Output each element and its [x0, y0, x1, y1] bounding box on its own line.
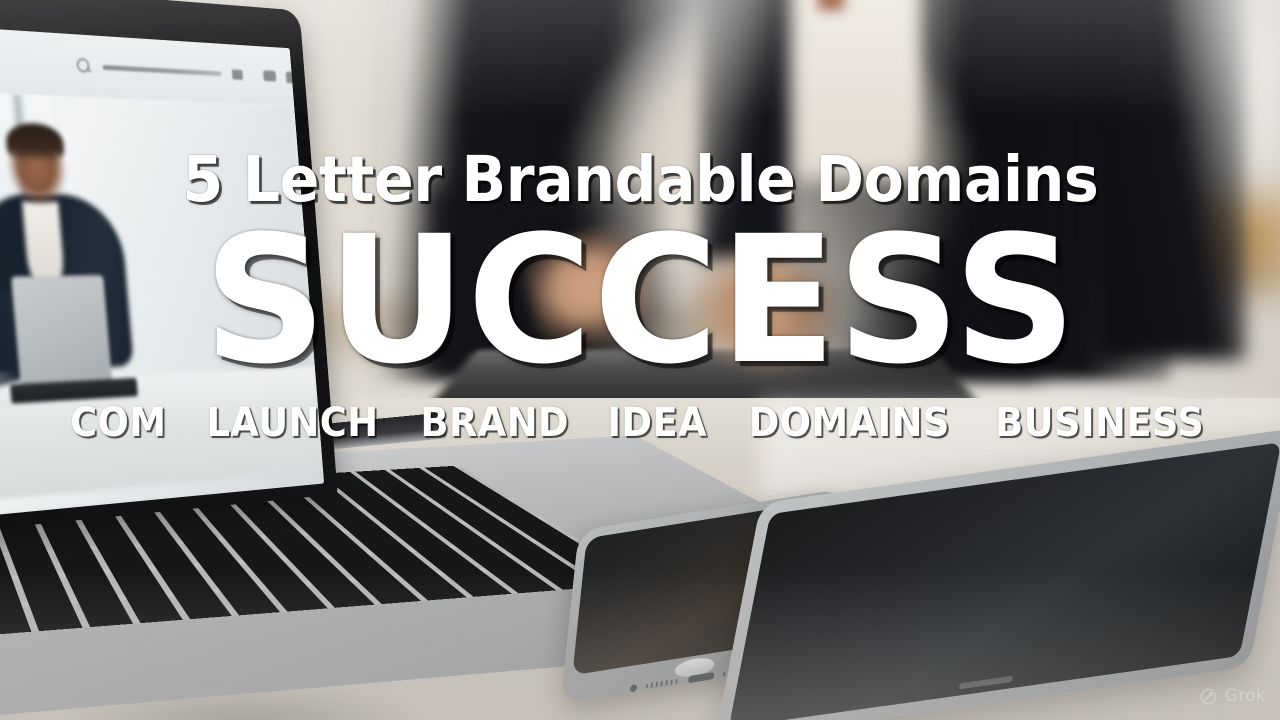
video-laptop	[11, 275, 112, 392]
headphone-jack-icon	[630, 684, 638, 692]
tabs-icon[interactable]	[232, 69, 243, 79]
laptop-device	[0, 0, 620, 720]
address-bar[interactable]	[102, 65, 221, 76]
laptop-screen	[0, 19, 324, 524]
watermark-label: Grok	[1225, 686, 1266, 706]
background-person-tie	[818, 0, 844, 10]
grok-watermark: Grok	[1199, 686, 1266, 706]
laptop-lid	[0, 0, 338, 540]
background-person-shoulder	[1095, 0, 1245, 360]
search-icon[interactable]	[76, 57, 92, 74]
background-person-lapel	[700, 0, 790, 260]
grok-logo-icon	[1199, 687, 1218, 706]
toolbar-divider	[253, 70, 254, 81]
media-icon[interactable]	[263, 70, 276, 81]
lock-icon[interactable]	[286, 71, 295, 83]
browser-toolbar[interactable]	[0, 19, 294, 106]
promotional-thumbnail: 5 Letter Brandable Domains SUCCESS COM L…	[0, 0, 1280, 720]
laptop-video-content	[0, 87, 324, 525]
background-person-right-arm	[790, 180, 1040, 380]
